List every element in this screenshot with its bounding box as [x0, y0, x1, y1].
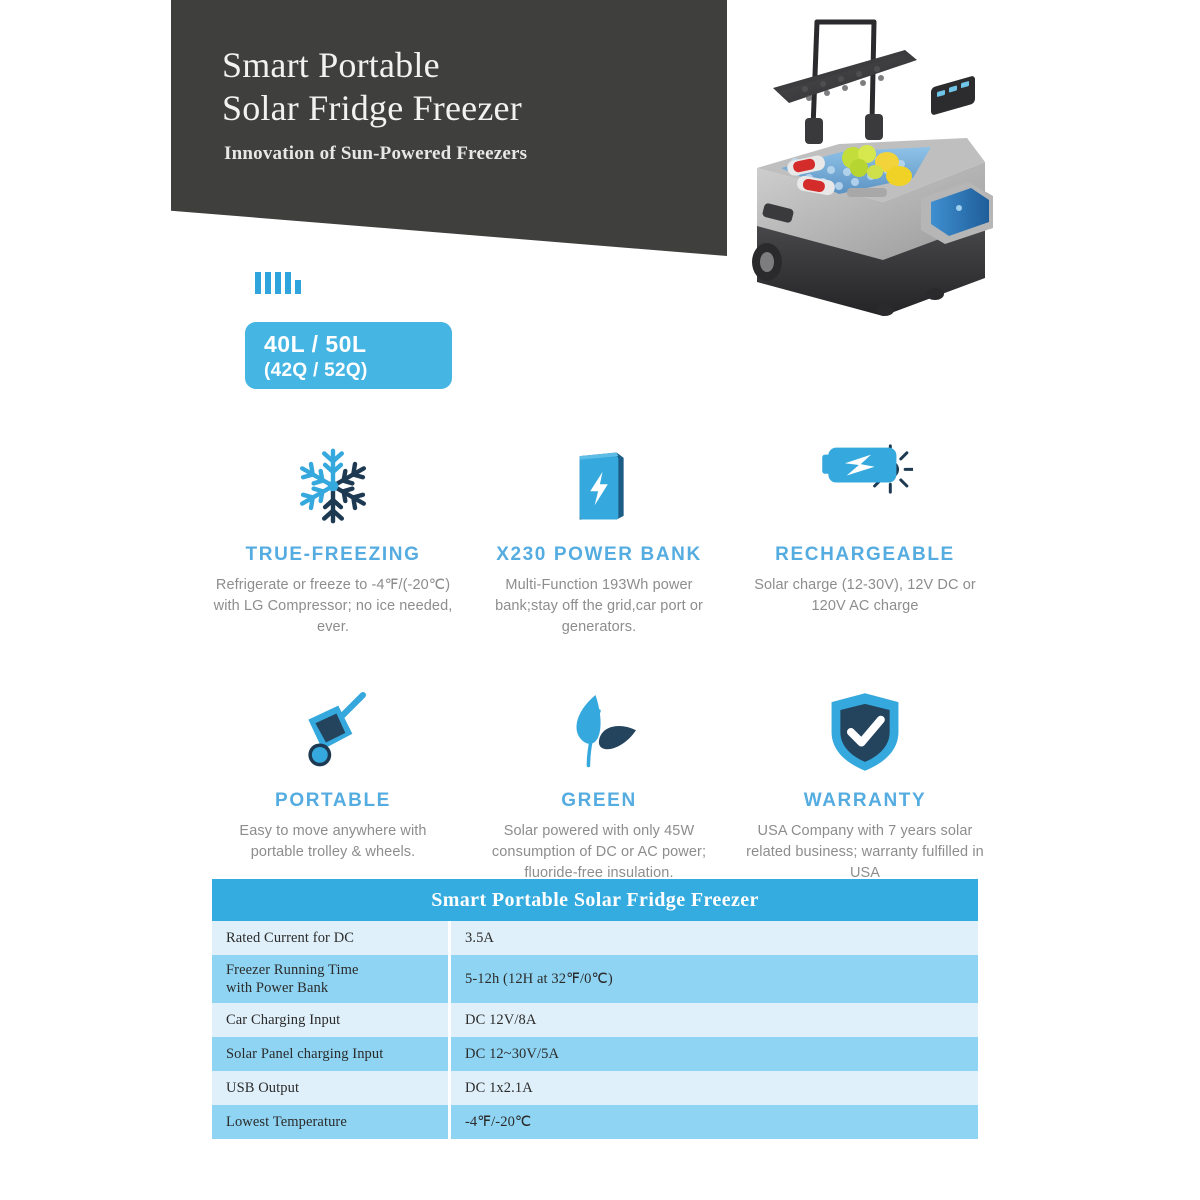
feature-description: Multi-Function 193Wh power bank;stay off… — [478, 575, 720, 638]
table-row: Rated Current for DC 3.5A — [212, 921, 978, 955]
table-title: Smart Portable Solar Fridge Freezer — [212, 879, 978, 921]
bar-3 — [275, 272, 281, 294]
spec-value: DC 1x2.1A — [450, 1071, 979, 1105]
feature-power-bank: X230 POWER BANK Multi-Function 193Wh pow… — [466, 440, 732, 638]
shield-check-icon — [744, 686, 986, 778]
spec-label: Rated Current for DC — [212, 921, 450, 955]
bar-5 — [295, 280, 301, 294]
bar-1 — [255, 272, 261, 294]
feature-title: GREEN — [478, 790, 720, 812]
spec-value: 5-12h (12H at 32℉/0℃) — [450, 955, 979, 1003]
table-row: Freezer Running Time with Power Bank 5-1… — [212, 955, 978, 1003]
spec-label: USB Output — [212, 1071, 450, 1105]
feature-green: GREEN Solar powered with only 45W consum… — [466, 686, 732, 884]
table-header-row: Smart Portable Solar Fridge Freezer — [212, 879, 978, 921]
feature-title: PORTABLE — [212, 790, 454, 812]
features-grid: TRUE-FREEZING Refrigerate or freeze to -… — [200, 440, 1000, 884]
product-photo — [735, 10, 997, 340]
page-subtitle: Innovation of Sun-Powered Freezers — [224, 143, 694, 165]
snowflake-icon — [212, 440, 454, 532]
spec-label: Lowest Temperature — [212, 1105, 450, 1139]
feature-title: RECHARGEABLE — [744, 544, 986, 566]
feature-description: Refrigerate or freeze to -4℉/(-20℃) with… — [212, 575, 454, 638]
table-row: Lowest Temperature -4℉/-20℃ — [212, 1105, 978, 1139]
table-row: Solar Panel charging Input DC 12~30V/5A — [212, 1037, 978, 1071]
feature-rechargeable: RECHARGEABLE Solar charge (12-30V), 12V … — [732, 440, 998, 638]
capacity-liters: 40L / 50L — [264, 330, 452, 358]
spec-value: -4℉/-20℃ — [450, 1105, 979, 1139]
power-bank-icon — [478, 440, 720, 532]
table-row: Car Charging Input DC 12V/8A — [212, 1003, 978, 1037]
bar-2 — [265, 272, 271, 294]
feature-description: Easy to move anywhere with portable trol… — [212, 821, 454, 863]
bar-4 — [285, 272, 291, 294]
spec-label: Car Charging Input — [212, 1003, 450, 1037]
features-row-2: PORTABLE Easy to move anywhere with port… — [200, 686, 1000, 884]
features-row-1: TRUE-FREEZING Refrigerate or freeze to -… — [200, 440, 1000, 638]
spec-value: DC 12V/8A — [450, 1003, 979, 1037]
capacity-quarts: (42Q / 52Q) — [264, 358, 452, 383]
table-row: USB Output DC 1x2.1A — [212, 1071, 978, 1105]
feature-true-freezing: TRUE-FREEZING Refrigerate or freeze to -… — [200, 440, 466, 638]
battery-sun-icon — [744, 440, 986, 532]
feature-warranty: WARRANTY USA Company with 7 years solar … — [732, 686, 998, 884]
leaf-icon — [478, 686, 720, 778]
capacity-badge: 40L / 50L (42Q / 52Q) — [245, 322, 452, 389]
page-title: Smart Portable Solar Fridge Freezer — [222, 44, 692, 130]
signal-bars-icon — [255, 272, 311, 294]
feature-portable: PORTABLE Easy to move anywhere with port… — [200, 686, 466, 884]
spec-label: Solar Panel charging Input — [212, 1037, 450, 1071]
hero-section: Smart Portable Solar Fridge Freezer Inno… — [0, 0, 1200, 380]
trolley-icon — [212, 686, 454, 778]
spec-value: DC 12~30V/5A — [450, 1037, 979, 1071]
spec-label: Freezer Running Time with Power Bank — [212, 955, 450, 1003]
feature-description: Solar charge (12-30V), 12V DC or 120V AC… — [744, 575, 986, 617]
specifications-table: Smart Portable Solar Fridge Freezer Rate… — [212, 879, 978, 1139]
feature-description: USA Company with 7 years solar related b… — [744, 821, 986, 884]
spec-value: 3.5A — [450, 921, 979, 955]
feature-description: Solar powered with only 45W consumption … — [478, 821, 720, 884]
feature-title: WARRANTY — [744, 790, 986, 812]
feature-title: TRUE-FREEZING — [212, 544, 454, 566]
feature-title: X230 POWER BANK — [478, 544, 720, 566]
